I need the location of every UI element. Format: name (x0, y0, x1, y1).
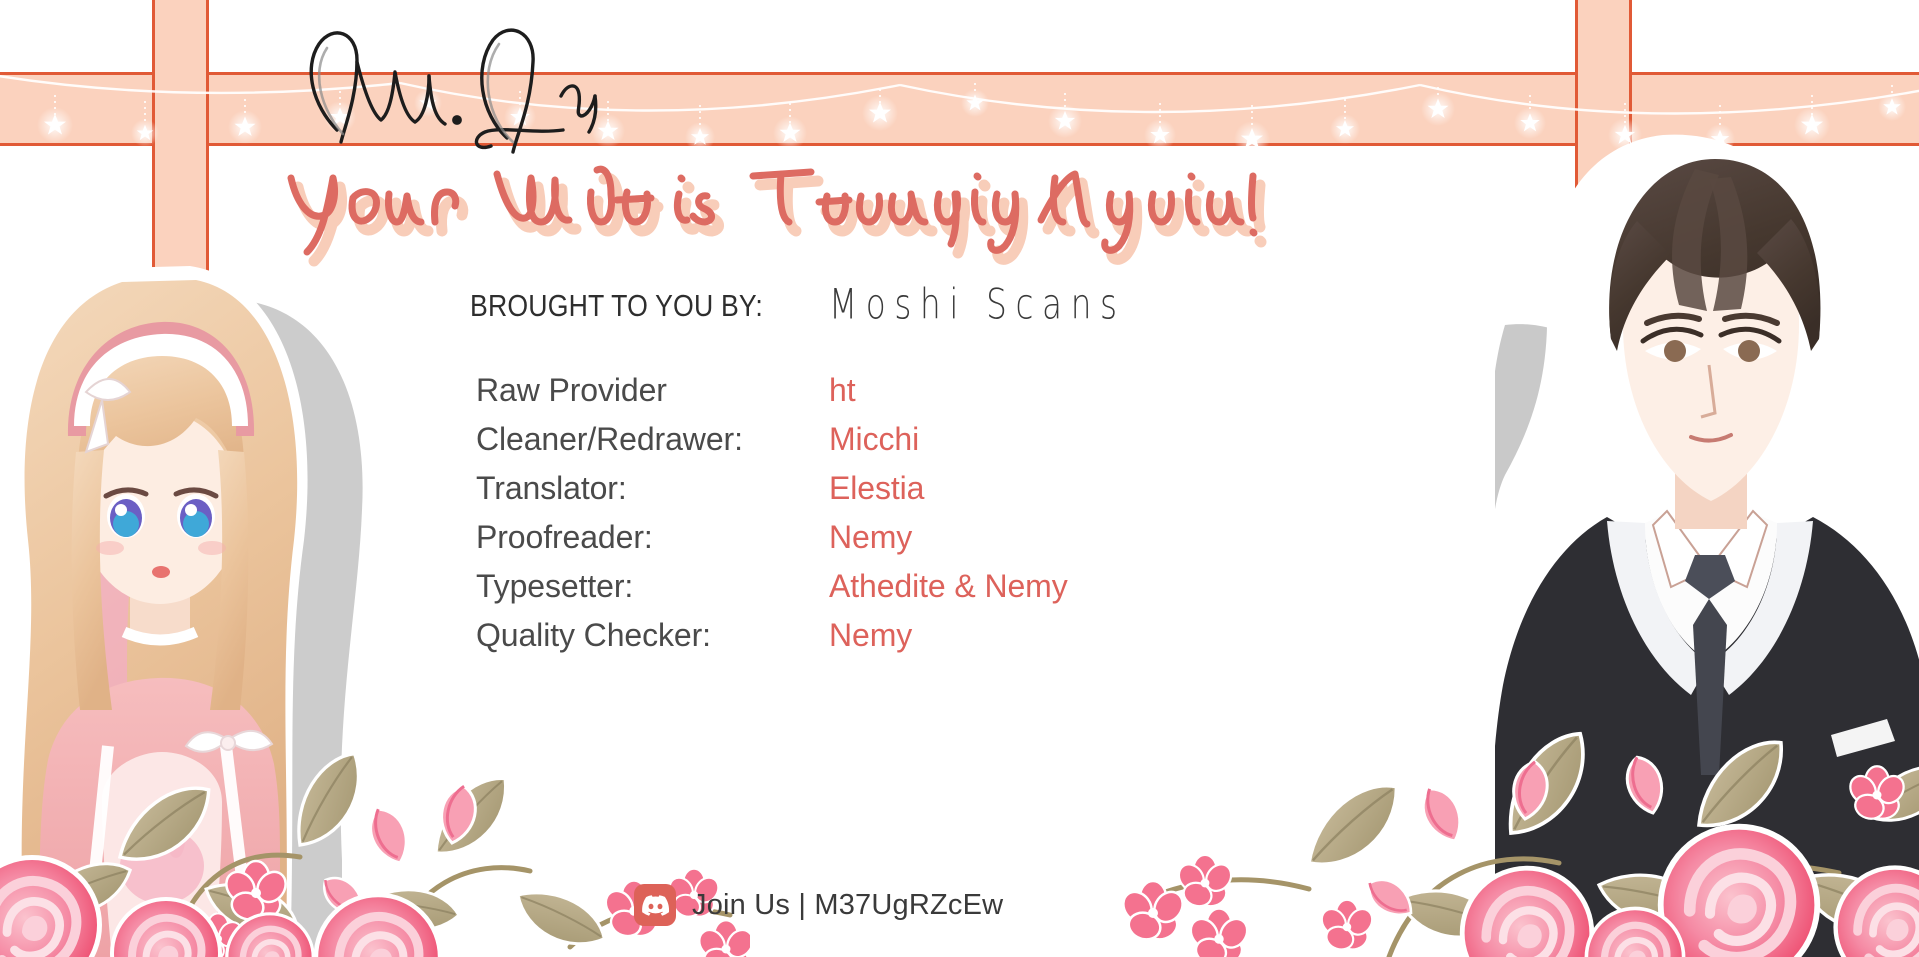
credits-page: BROUGHT TO YOU BY: Moshi Scans Raw Provi… (0, 0, 1919, 957)
brought-to-you-by-label: BROUGHT TO YOU BY: (470, 288, 763, 324)
credits-list: Raw Provider ht Cleaner/Redrawer: Micchi… (476, 372, 1068, 666)
credit-role-label: Translator: (476, 470, 829, 507)
credit-person-name: Athedite & Nemy (829, 568, 1068, 605)
brought-to-you-by: BROUGHT TO YOU BY: Moshi Scans (470, 285, 1138, 325)
credit-person-name: Nemy (829, 519, 912, 556)
credit-role-label: Quality Checker: (476, 617, 829, 654)
credit-row: Proofreader: Nemy (476, 519, 1068, 568)
credit-row: Cleaner/Redrawer: Micchi (476, 421, 1068, 470)
credit-row: Quality Checker: Nemy (476, 617, 1068, 666)
discord-invite-label[interactable]: Join Us | M37UgRZcEw (692, 889, 1003, 922)
series-prefix-script (295, 10, 675, 165)
credit-role-label: Raw Provider (476, 372, 829, 409)
credit-role-label: Cleaner/Redrawer: (476, 421, 829, 458)
credit-person-name: Elestia (829, 470, 924, 507)
right-character-illustration (1495, 125, 1919, 957)
scanlation-group-name: Moshi Scans (829, 281, 1126, 330)
credit-person-name: ht (829, 372, 856, 409)
credit-person-name: Nemy (829, 617, 912, 654)
credit-role-label: Proofreader: (476, 519, 829, 556)
credit-row: Raw Provider ht (476, 372, 1068, 421)
discord-icon[interactable] (634, 884, 676, 926)
credit-role-label: Typesetter: (476, 568, 829, 605)
credit-row: Typesetter: Athedite & Nemy (476, 568, 1068, 617)
left-character-illustration (0, 240, 460, 957)
credit-row: Translator: Elestia (476, 470, 1068, 519)
discord-invite[interactable]: Join Us | M37UgRZcEw (634, 884, 1003, 926)
credit-person-name: Micchi (829, 421, 919, 458)
main-title-script (275, 160, 1265, 260)
